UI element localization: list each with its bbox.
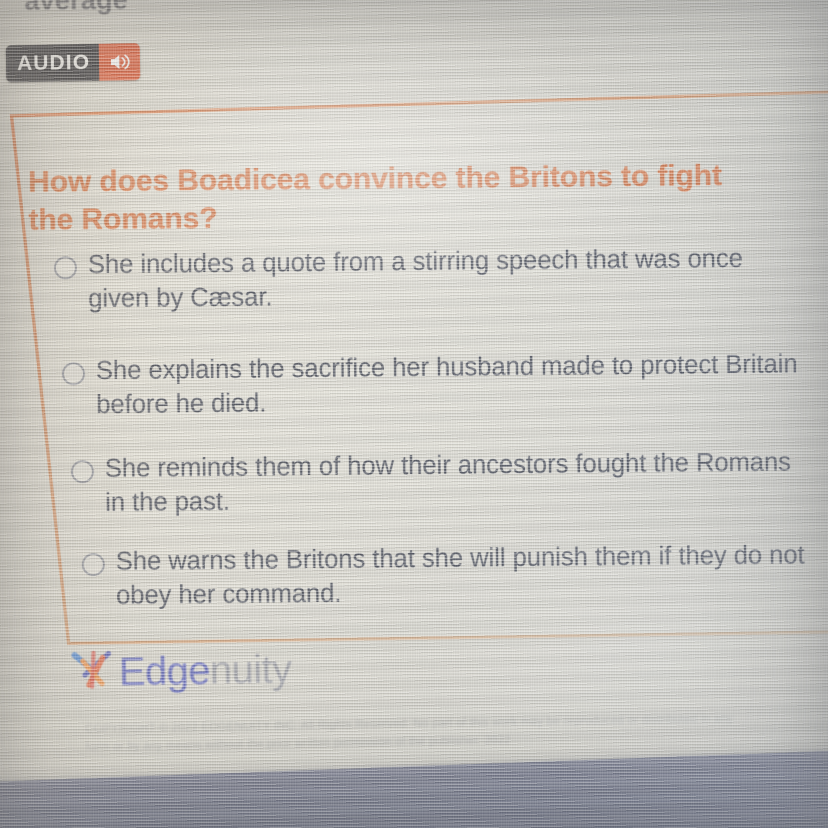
answer-option-a[interactable]: She includes a quote from a stirring spe… (54, 243, 771, 317)
copyright-notice: COPYRIGHT © 2022 EDGENUITY INC. All Righ… (85, 710, 828, 757)
audio-button[interactable]: AUDIO (6, 43, 141, 82)
radio-button-icon[interactable] (82, 553, 105, 576)
answer-option-c-label: She reminds them of how their ancestors … (105, 446, 812, 520)
radio-button-icon[interactable] (62, 362, 85, 385)
cut-off-top-text: average (24, 0, 128, 17)
screen-photograph: average AUDIO (0, 0, 828, 828)
radio-button-icon[interactable] (54, 256, 77, 279)
screen-content: average AUDIO (0, 0, 828, 828)
radio-button-icon[interactable] (71, 460, 94, 483)
logo-word-part-2: nuity (209, 647, 291, 692)
answer-option-b-label: She explains the sacrifice her husband m… (96, 348, 803, 422)
speaker-icon (99, 43, 141, 81)
edgenuity-logo: Edgenuity (68, 645, 291, 696)
question-title: How does Boadicea convince the Britons t… (28, 157, 759, 240)
answer-option-c[interactable]: She reminds them of how their ancestors … (71, 446, 812, 520)
bottom-navigation-band (0, 749, 828, 828)
answer-option-d[interactable]: She warns the Britons that she will puni… (82, 539, 823, 613)
answer-option-a-label: She includes a quote from a stirring spe… (88, 243, 771, 317)
edgenuity-wordmark: Edgenuity (118, 649, 291, 692)
answer-option-d-label: She warns the Britons that she will puni… (116, 539, 823, 613)
logo-word-part-1: Edge (118, 648, 210, 694)
audio-button-label: AUDIO (6, 44, 100, 83)
edgenuity-x-mark-icon (68, 648, 115, 696)
answer-option-b[interactable]: She explains the sacrifice her husband m… (62, 348, 803, 422)
